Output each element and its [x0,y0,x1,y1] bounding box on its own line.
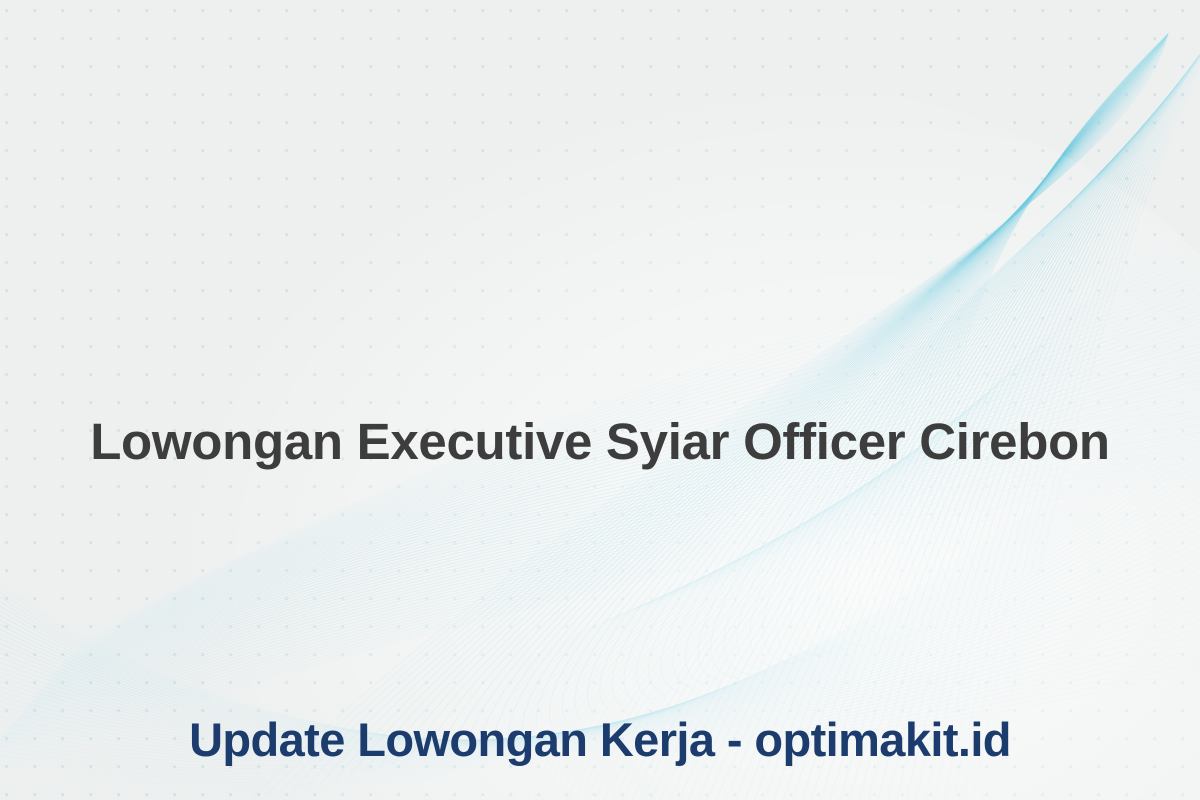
card-content: Lowongan Executive Syiar Officer Cirebon… [0,0,1200,800]
brand-subtitle: Update Lowongan Kerja - optimakit.id [0,712,1200,768]
og-card: Lowongan Executive Syiar Officer Cirebon… [0,0,1200,800]
page-title: Lowongan Executive Syiar Officer Cirebon [0,412,1200,472]
